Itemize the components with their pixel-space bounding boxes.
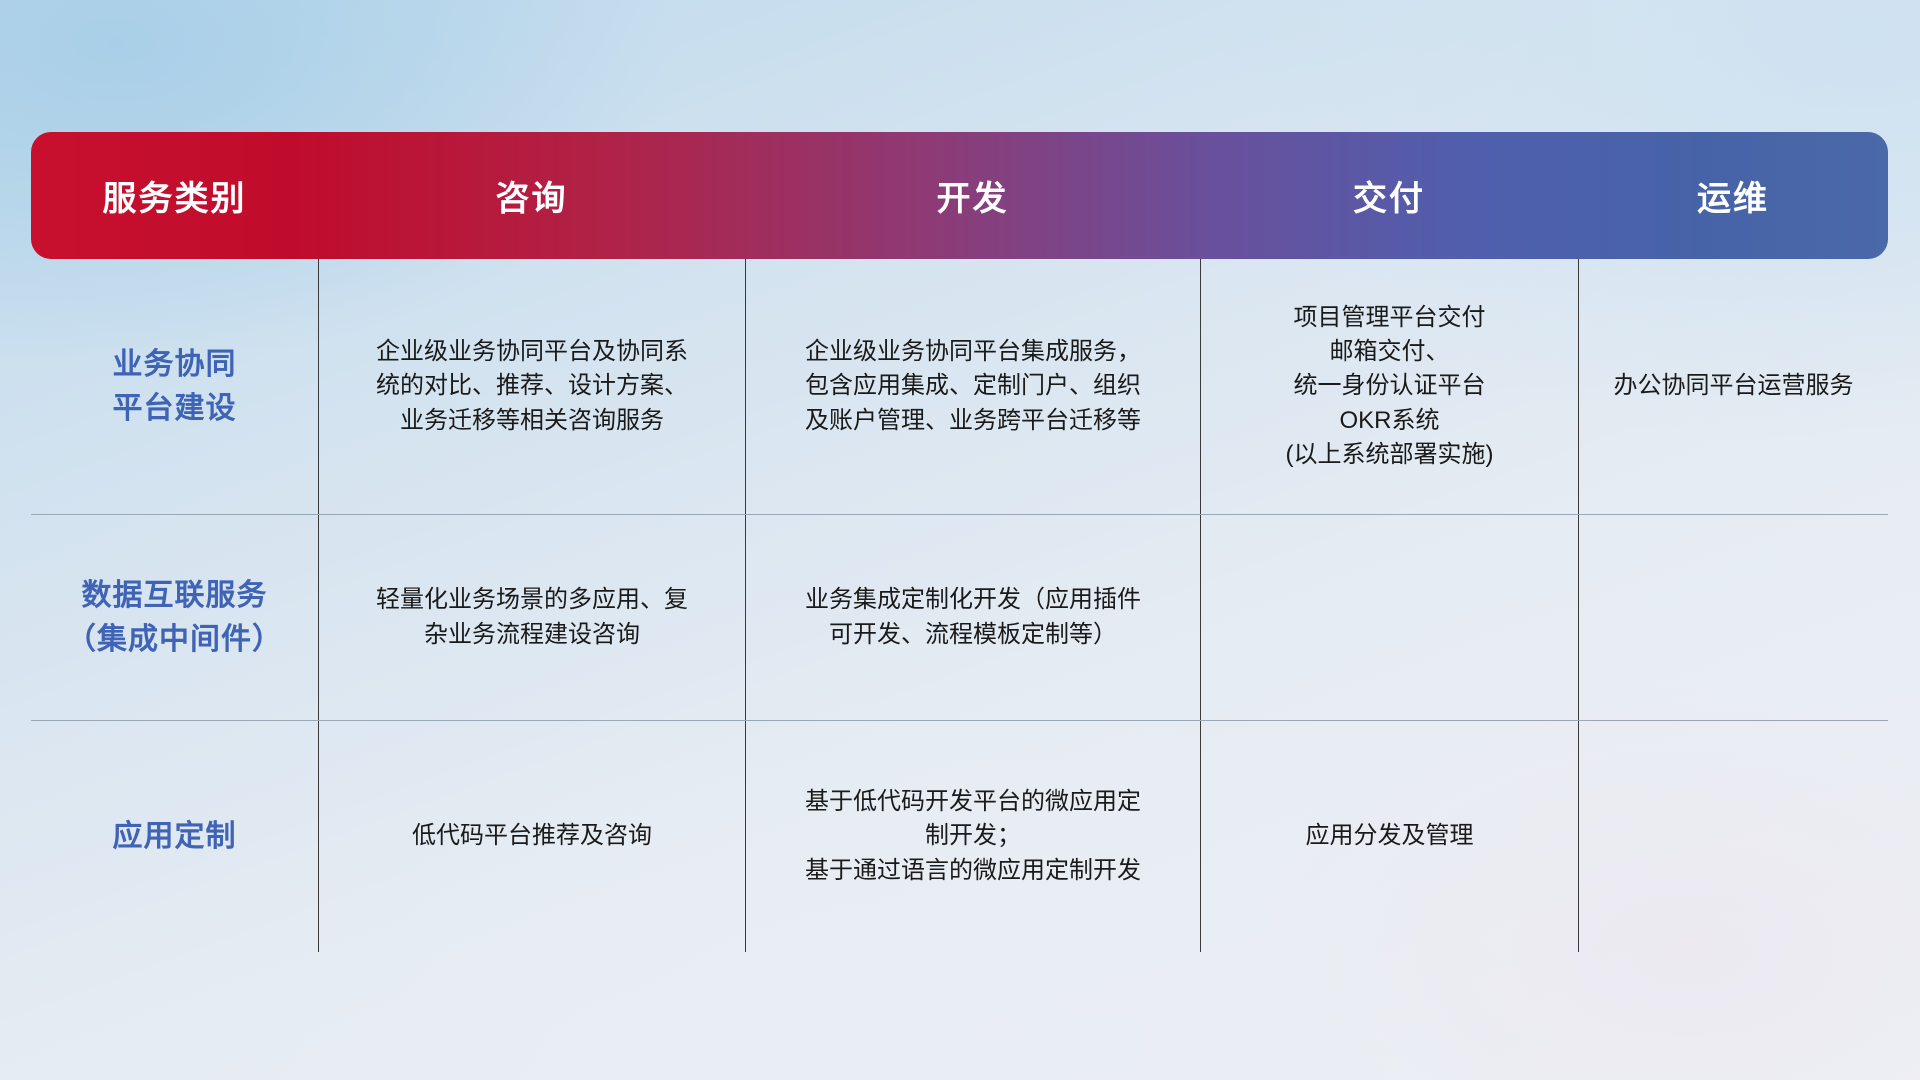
- cell-delivery-data-interconnect: [1200, 515, 1578, 720]
- service-matrix-table: 服务类别 咨询 开发 交付 运维 业务协同 平台建设 企业级业务协同平台及协同系…: [31, 132, 1888, 950]
- table-row: 业务协同 平台建设 企业级业务协同平台及协同系 统的对比、推荐、设计方案、 业务…: [31, 259, 1888, 515]
- row-label-business-collaboration: 业务协同 平台建设: [31, 259, 318, 514]
- cell-operations-business-collaboration: 办公协同平台运营服务: [1578, 259, 1888, 514]
- table-row: 应用定制 低代码平台推荐及咨询 基于低代码开发平台的微应用定 制开发； 基于通过…: [31, 721, 1888, 952]
- cell-delivery-app-customization: 应用分发及管理: [1200, 721, 1578, 952]
- cell-development-data-interconnect: 业务集成定制化开发（应用插件 可开发、流程模板定制等）: [745, 515, 1200, 720]
- cell-consulting-data-interconnect: 轻量化业务场景的多应用、复 杂业务流程建设咨询: [318, 515, 745, 720]
- cell-delivery-business-collaboration: 项目管理平台交付 邮箱交付、 统一身份认证平台 OKR系统 (以上系统部署实施): [1200, 259, 1578, 514]
- column-header-service-category: 服务类别: [31, 171, 318, 220]
- cell-development-app-customization: 基于低代码开发平台的微应用定 制开发； 基于通过语言的微应用定制开发: [745, 721, 1200, 952]
- row-label-data-interconnect: 数据互联服务 （集成中间件）: [31, 515, 318, 720]
- column-header-consulting: 咨询: [318, 171, 745, 220]
- cell-operations-app-customization: [1578, 721, 1888, 952]
- cell-consulting-business-collaboration: 企业级业务协同平台及协同系 统的对比、推荐、设计方案、 业务迁移等相关咨询服务: [318, 259, 745, 514]
- table-body: 业务协同 平台建设 企业级业务协同平台及协同系 统的对比、推荐、设计方案、 业务…: [31, 259, 1888, 952]
- row-label-app-customization: 应用定制: [31, 721, 318, 952]
- column-header-operations: 运维: [1578, 171, 1888, 220]
- column-header-development: 开发: [745, 171, 1200, 220]
- table-row: 数据互联服务 （集成中间件） 轻量化业务场景的多应用、复 杂业务流程建设咨询 业…: [31, 515, 1888, 721]
- cell-consulting-app-customization: 低代码平台推荐及咨询: [318, 721, 745, 952]
- table-header-row: 服务类别 咨询 开发 交付 运维: [31, 132, 1888, 259]
- column-header-delivery: 交付: [1200, 171, 1578, 220]
- cell-development-business-collaboration: 企业级业务协同平台集成服务， 包含应用集成、定制门户、组织 及账户管理、业务跨平…: [745, 259, 1200, 514]
- cell-operations-data-interconnect: [1578, 515, 1888, 720]
